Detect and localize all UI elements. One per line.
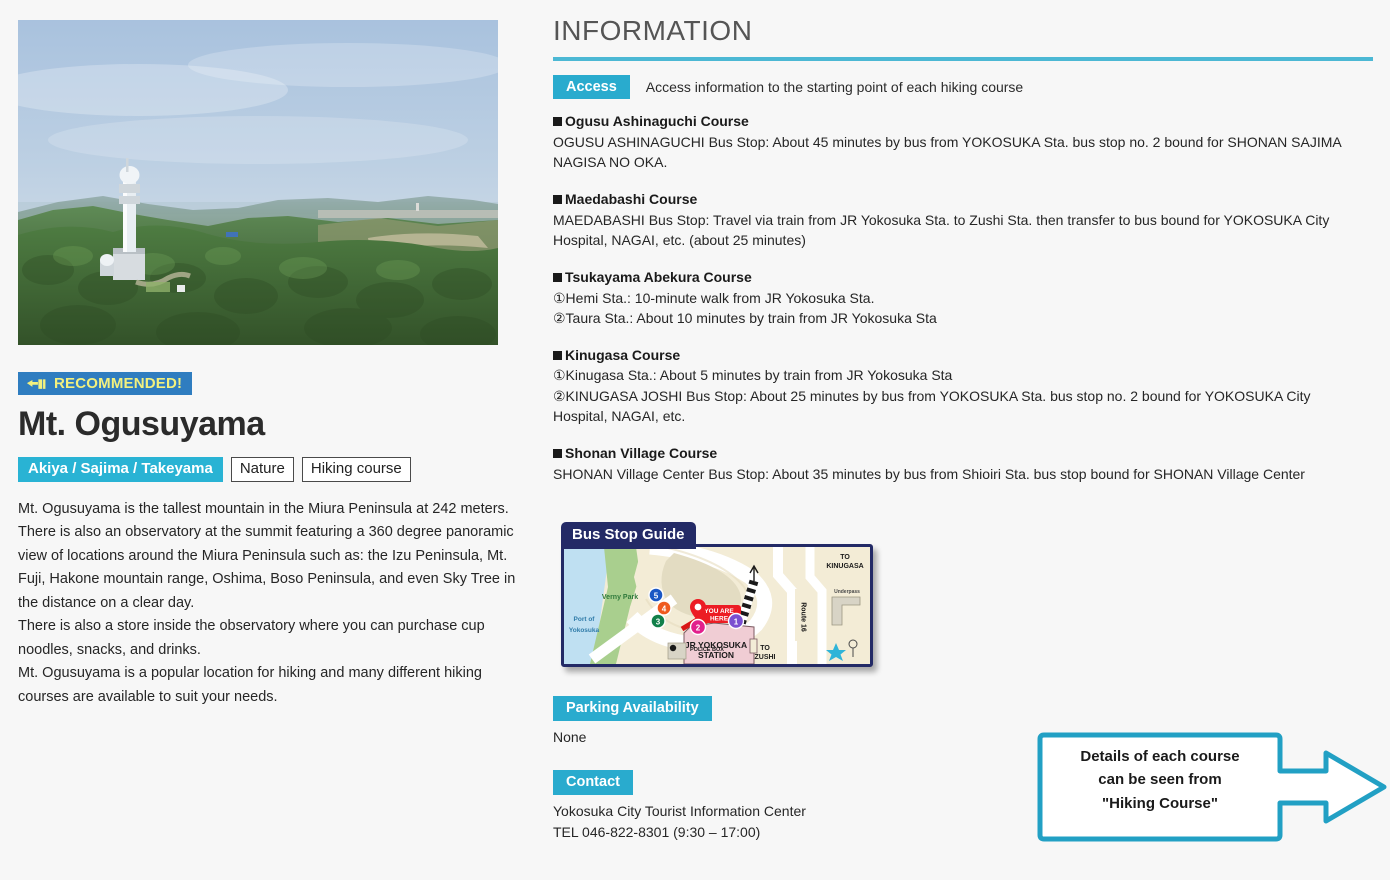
course-block-shonan-village: Shonan Village Course SHONAN Village Cen…	[553, 443, 1373, 484]
course-title: Kinugasa Course	[553, 345, 1373, 365]
course-block-tsukayama-abekura: Tsukayama Abekura Course ①Hemi Sta.: 10-…	[553, 267, 1373, 328]
course-block-maedabashi: Maedabashi Course MAEDABASHI Bus Stop: T…	[553, 189, 1373, 250]
bus-stop-marker-5: 5	[649, 588, 663, 602]
route-16-label: Route 16	[800, 602, 807, 632]
description-paragraph-1: Mt. Ogusuyama is the tallest mountain in…	[18, 498, 533, 521]
course-body: SHONAN Village Center Bus Stop: About 35…	[553, 464, 1373, 484]
svg-text:1: 1	[734, 617, 739, 626]
bus-stop-marker-1: 1	[729, 613, 744, 628]
course-body-line-3: Hospital, NAGAI, etc.	[553, 406, 1373, 426]
heading-underline	[553, 57, 1373, 61]
bus-stop-guide-tab: Bus Stop Guide	[561, 522, 696, 549]
bus-stop-guide: Bus Stop Guide	[553, 522, 873, 674]
page-title: Mt. Ogusuyama	[18, 406, 538, 443]
course-body: OGUSU ASHINAGUCHI Bus Stop: About 45 min…	[553, 132, 1373, 173]
svg-text:POLICE BOX: POLICE BOX	[690, 647, 724, 653]
port-label-line1: Port of	[574, 616, 596, 623]
svg-text:YOU ARE: YOU ARE	[704, 608, 734, 615]
category-tag-hiking-course[interactable]: Hiking course	[302, 457, 411, 482]
course-title-text: Tsukayama Abekura Course	[565, 269, 752, 285]
course-title-text: Maedabashi Course	[565, 191, 697, 207]
bus-stop-marker-4: 4	[657, 601, 671, 615]
course-body-line-1: ①Kinugasa Sta.: About 5 minutes by train…	[553, 365, 1373, 385]
course-body-line-2: ②Taura Sta.: About 10 minutes by train f…	[553, 308, 1373, 328]
svg-text:3: 3	[656, 617, 661, 626]
course-title: Ogusu Ashinaguchi Course	[553, 111, 1373, 131]
tag-row: Akiya / Sajima / Takeyama Nature Hiking …	[18, 457, 538, 482]
access-note: Access information to the starting point…	[646, 79, 1023, 95]
mountain-photo-illustration	[18, 20, 498, 345]
square-bullet-icon	[553, 273, 562, 282]
course-title-text: Ogusu Ashinaguchi Course	[565, 113, 749, 129]
access-chip: Access	[553, 75, 630, 100]
course-block-ogusu-ashinaguchi: Ogusu Ashinaguchi Course OGUSU ASHINAGUC…	[553, 111, 1373, 172]
area-tag[interactable]: Akiya / Sajima / Takeyama	[18, 457, 223, 482]
bus-stop-map-illustration: Route 16 JR YOKOSUKA STATION	[564, 547, 870, 664]
pointing-hand-icon	[26, 377, 48, 391]
hiking-course-callout[interactable]: Details of each course can be seen from …	[1036, 731, 1390, 843]
course-title: Maedabashi Course	[553, 189, 1373, 209]
parking-chip: Parking Availability	[553, 696, 712, 721]
callout-line-1: Details of each course	[1036, 745, 1284, 768]
bus-stop-marker-3: 3	[651, 614, 665, 628]
description-paragraph-3: There is also a store inside the observa…	[18, 615, 533, 662]
contact-chip: Contact	[553, 770, 633, 795]
svg-text:2: 2	[696, 623, 701, 632]
svg-text:5: 5	[654, 591, 659, 600]
course-body-line-2: ②KINUGASA JOSHI Bus Stop: About 25 minut…	[553, 386, 1373, 406]
svg-text:HERE: HERE	[710, 615, 729, 622]
description: Mt. Ogusuyama is the tallest mountain in…	[18, 498, 533, 709]
port-label-line2: Yokosuka	[569, 627, 600, 634]
information-column: INFORMATION Access Access information to…	[553, 14, 1373, 843]
square-bullet-icon	[553, 351, 562, 360]
recommended-label: RECOMMENDED!	[54, 376, 182, 391]
callout-line-3: "Hiking Course"	[1036, 792, 1284, 815]
square-bullet-icon	[553, 117, 562, 126]
course-title: Shonan Village Course	[553, 443, 1373, 463]
hero-photo	[18, 20, 498, 345]
course-block-kinugasa: Kinugasa Course ①Kinugasa Sta.: About 5 …	[553, 345, 1373, 426]
course-title-text: Kinugasa Course	[565, 347, 680, 363]
course-body: MAEDABASHI Bus Stop: Travel via train fr…	[553, 210, 1373, 251]
description-paragraph-4: Mt. Ogusuyama is a popular location for …	[18, 662, 533, 709]
course-title-text: Shonan Village Course	[565, 445, 717, 461]
course-title: Tsukayama Abekura Course	[553, 267, 1373, 287]
course-body-line-1: ①Hemi Sta.: 10-minute walk from JR Yokos…	[553, 288, 1373, 308]
to-zushi-line2: ZUSHI	[755, 654, 776, 661]
underpass-label: Underpass	[834, 589, 860, 595]
svg-text:4: 4	[662, 604, 667, 613]
description-paragraph-2: There is also an observatory at the summ…	[18, 521, 533, 615]
category-tag-nature[interactable]: Nature	[231, 457, 294, 482]
verny-park-label: Verny Park	[602, 594, 638, 601]
access-header: Access Access information to the startin…	[553, 75, 1373, 100]
square-bullet-icon	[553, 449, 562, 458]
square-bullet-icon	[553, 195, 562, 204]
bus-stop-map[interactable]: Route 16 JR YOKOSUKA STATION	[561, 544, 873, 667]
information-heading: INFORMATION	[553, 14, 1373, 48]
recommended-badge: RECOMMENDED!	[18, 372, 192, 395]
to-kinugasa-line2: KINUGASA	[826, 563, 863, 570]
to-kinugasa-line1: TO	[840, 554, 850, 561]
left-column: RECOMMENDED! Mt. Ogusuyama Akiya / Sajim…	[18, 20, 538, 709]
to-zushi-line1: TO	[760, 645, 770, 652]
callout-line-2: can be seen from	[1036, 768, 1284, 791]
callout-text: Details of each course can be seen from …	[1036, 745, 1284, 815]
